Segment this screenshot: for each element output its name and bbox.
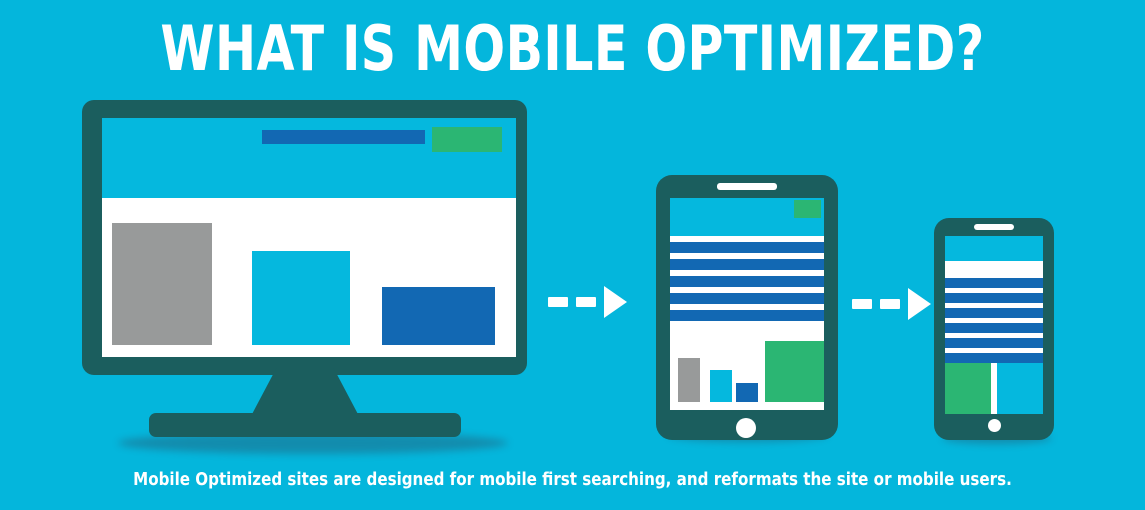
arrow-dash bbox=[548, 297, 568, 307]
arrow-head bbox=[908, 288, 931, 320]
phone-screen-header bbox=[945, 236, 1043, 261]
phone-panel-green bbox=[945, 363, 991, 414]
tablet-cta-button bbox=[794, 200, 821, 218]
monitor-navbar bbox=[262, 130, 425, 144]
phone-panel-cyan bbox=[997, 363, 1043, 414]
phone-text-stripe bbox=[945, 323, 1043, 333]
tablet-text-stripe bbox=[670, 276, 824, 287]
monitor-stand-neck bbox=[250, 368, 360, 418]
monitor-content-block-gray bbox=[112, 223, 212, 345]
tablet-screen bbox=[670, 198, 824, 410]
monitor-cta-button bbox=[432, 127, 502, 152]
tablet-text-stripe bbox=[670, 242, 824, 253]
arrow-dash bbox=[576, 297, 596, 307]
desktop-monitor bbox=[0, 0, 560, 460]
tablet-bar-cyan bbox=[710, 370, 732, 402]
flow-arrow-tablet-to-phone-icon bbox=[852, 288, 932, 320]
tablet-screen-header bbox=[670, 198, 824, 236]
monitor-screen bbox=[102, 118, 516, 357]
tablet-bar-blue bbox=[736, 383, 758, 402]
flow-arrow-desktop-to-tablet-icon bbox=[548, 286, 628, 318]
monitor-stand-base bbox=[149, 413, 461, 437]
monitor-content-block-blue bbox=[382, 287, 495, 345]
phone-text-stripe bbox=[945, 278, 1043, 288]
phone-screen bbox=[945, 236, 1043, 414]
tablet-speaker-icon bbox=[717, 183, 777, 190]
tablet-text-stripe bbox=[670, 310, 824, 321]
arrow-dash bbox=[880, 299, 900, 309]
tablet-text-stripe bbox=[670, 259, 824, 270]
phone-text-stripe bbox=[945, 293, 1043, 303]
phone-speaker-icon bbox=[974, 224, 1014, 230]
arrow-head bbox=[604, 286, 627, 318]
monitor-screen-header bbox=[102, 118, 516, 198]
tablet-home-button bbox=[736, 418, 756, 438]
tablet-text-stripe bbox=[670, 293, 824, 304]
phone-text-stripe bbox=[945, 353, 1043, 363]
arrow-dash bbox=[852, 299, 872, 309]
tablet-bar-gray bbox=[678, 358, 700, 402]
tablet-panel-green bbox=[765, 341, 824, 402]
monitor-content-block-cyan bbox=[252, 251, 350, 345]
caption-text: Mobile Optimized sites are designed for … bbox=[23, 470, 1122, 490]
phone-text-stripe bbox=[945, 308, 1043, 318]
phone-text-stripe bbox=[945, 338, 1043, 348]
phone-home-button bbox=[988, 419, 1001, 432]
infographic-canvas: WHAT IS MOBILE OPTIMIZED? bbox=[0, 0, 1145, 510]
